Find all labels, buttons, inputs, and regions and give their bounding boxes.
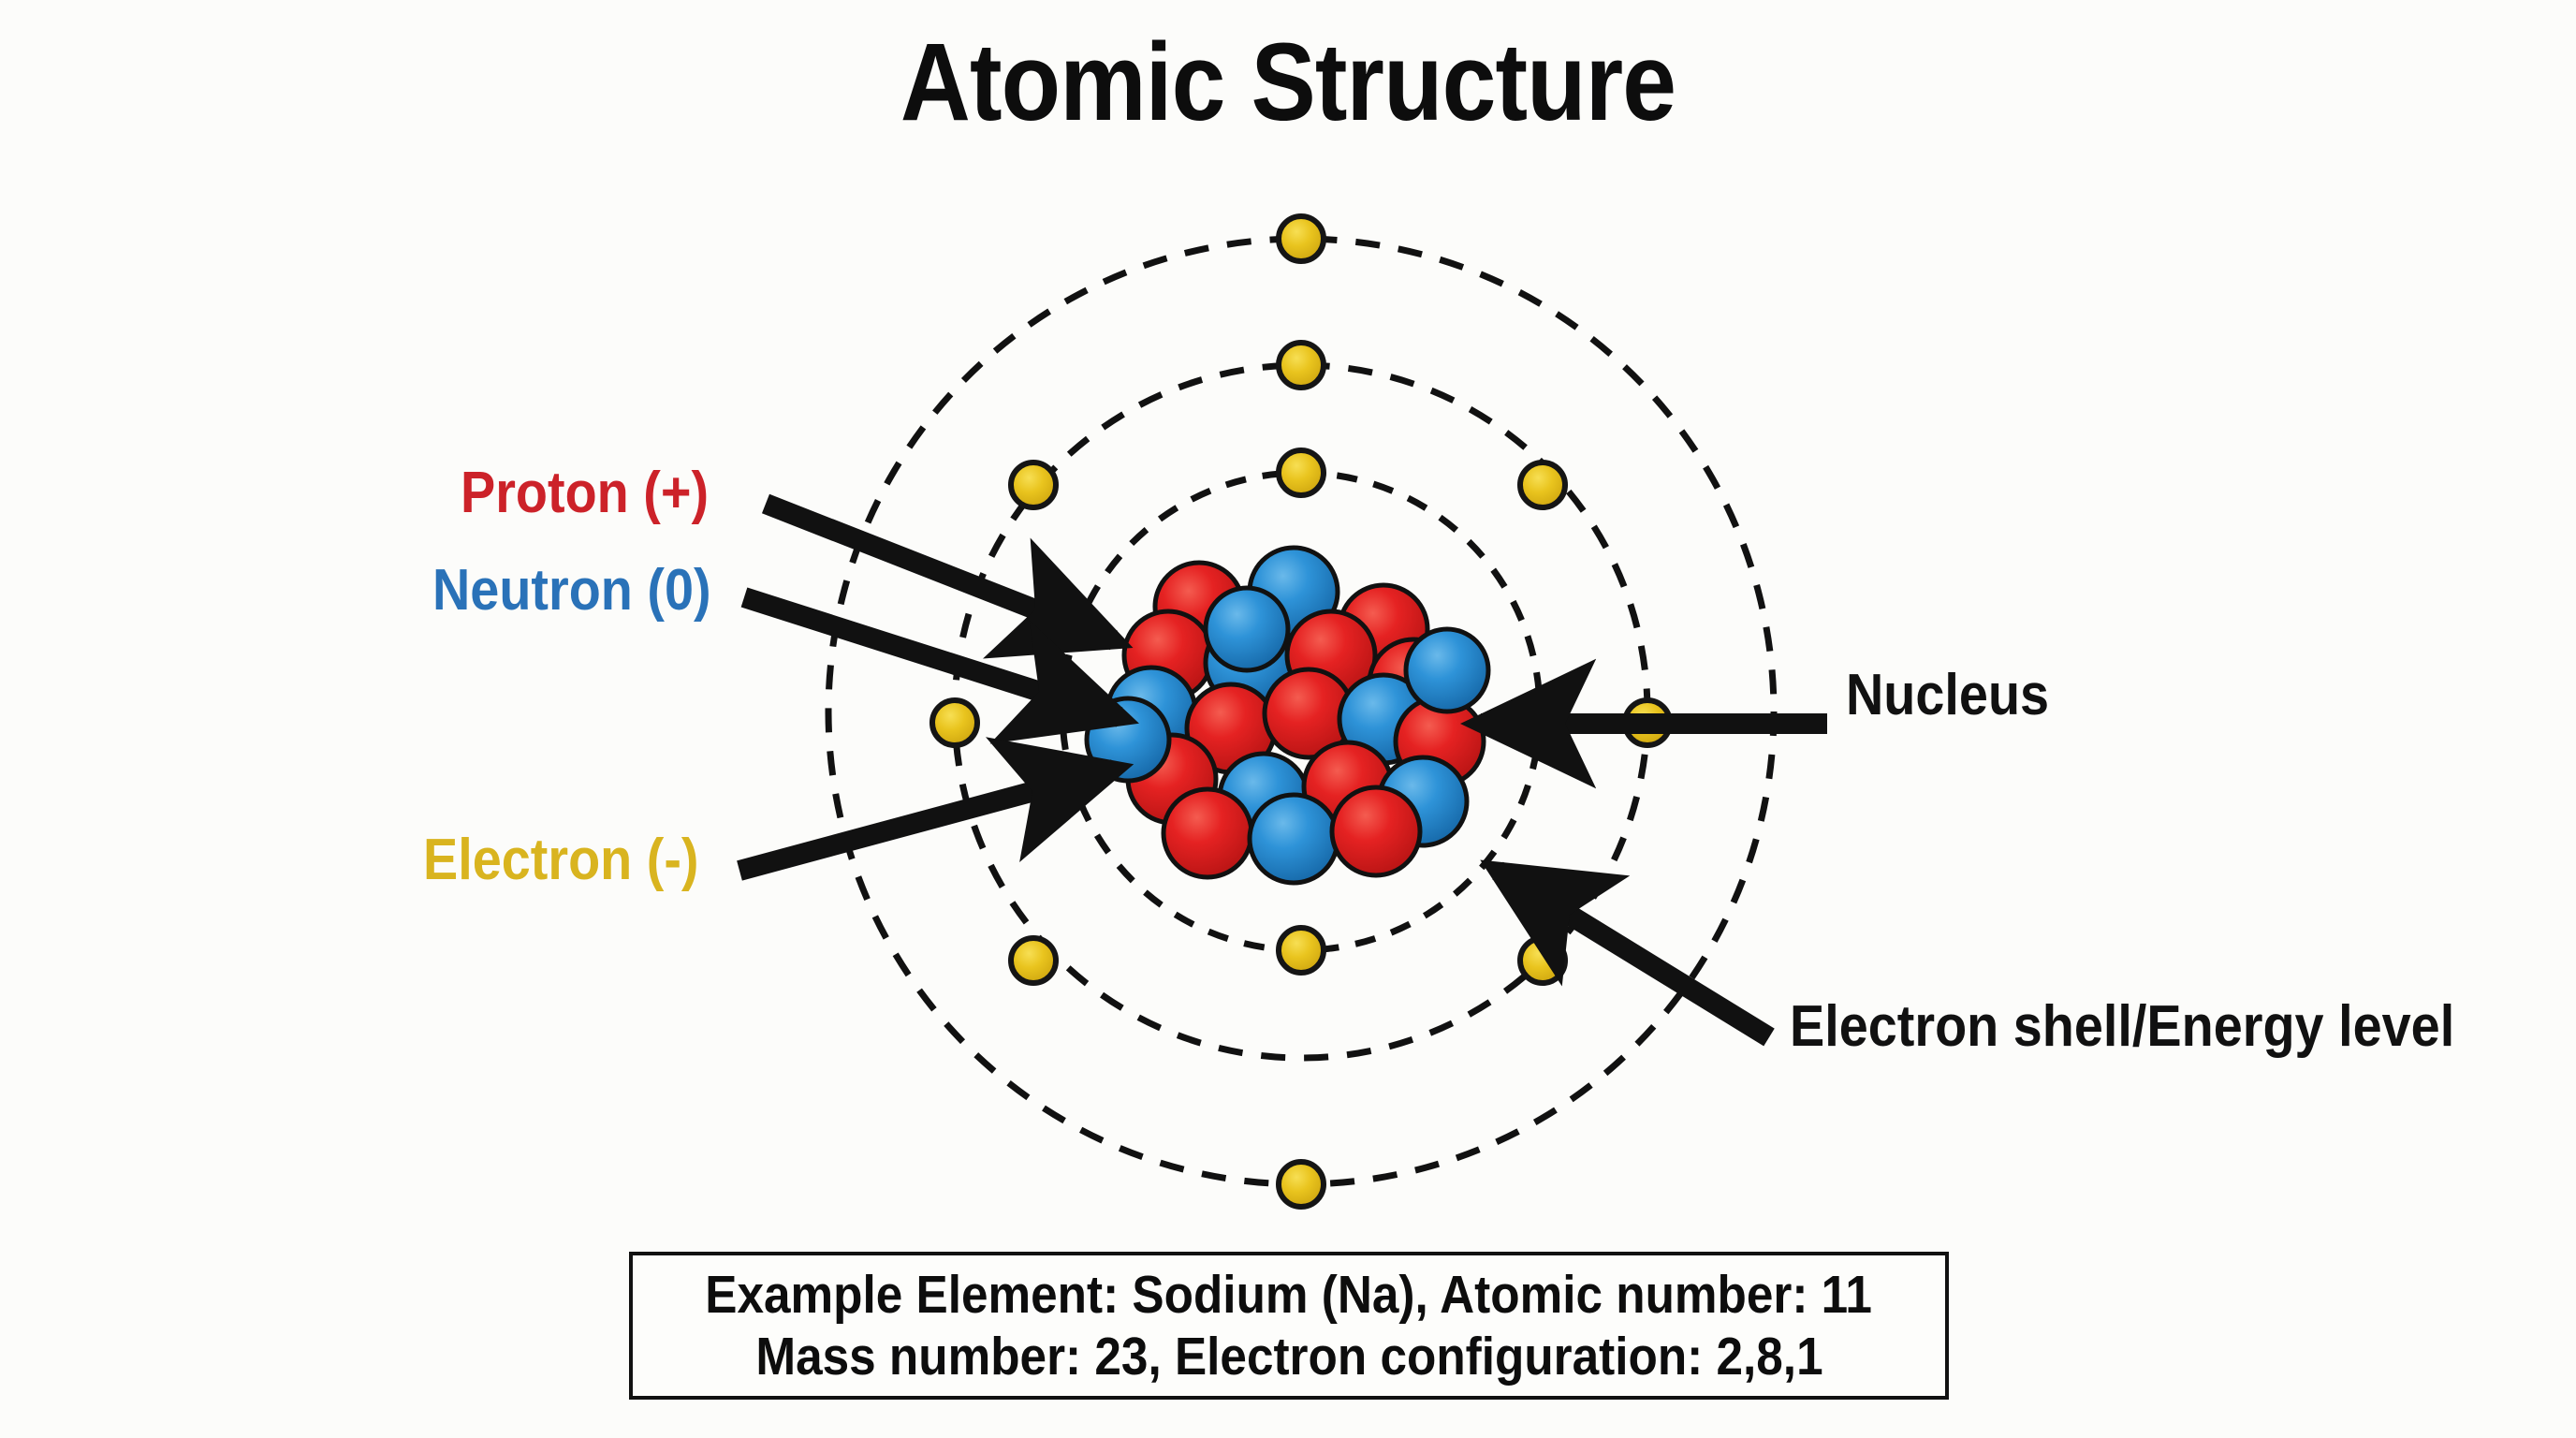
nucleus-label: Nucleus xyxy=(1846,667,2049,725)
neutron-particle xyxy=(1206,588,1288,670)
atomic-structure-diagram: Atomic Structure xyxy=(0,0,2576,1438)
electron-particle xyxy=(932,700,977,745)
nucleus xyxy=(1087,548,1488,883)
atom-illustration xyxy=(0,0,2576,1438)
caption-line-2: Mass number: 23, Electron configuration:… xyxy=(755,1326,1822,1387)
electron-shell-label: Electron shell/Energy level xyxy=(1790,998,2454,1056)
electron-label: Electron (-) xyxy=(423,831,699,889)
electron-particle xyxy=(1520,462,1565,507)
electron-particle xyxy=(1279,928,1324,973)
electron-particle xyxy=(1279,343,1324,388)
proton-particle xyxy=(1164,789,1251,877)
caption-box: Example Element: Sodium (Na), Atomic num… xyxy=(629,1252,1949,1400)
electron-particle xyxy=(1279,450,1324,495)
electron-arrow xyxy=(739,770,1114,871)
neutron-label: Neutron (0) xyxy=(432,562,711,620)
proton-label: Proton (+) xyxy=(461,464,709,522)
neutron-particle xyxy=(1250,795,1338,883)
caption-line-1: Example Element: Sodium (Na), Atomic num… xyxy=(706,1264,1873,1326)
neutron-particle xyxy=(1406,629,1488,712)
electron-particle xyxy=(1011,462,1056,507)
electron-particle xyxy=(1279,1162,1324,1207)
electron-particle xyxy=(1520,938,1565,983)
proton-particle xyxy=(1332,787,1420,875)
electron-particle xyxy=(1279,216,1324,261)
electron-particle xyxy=(1011,938,1056,983)
